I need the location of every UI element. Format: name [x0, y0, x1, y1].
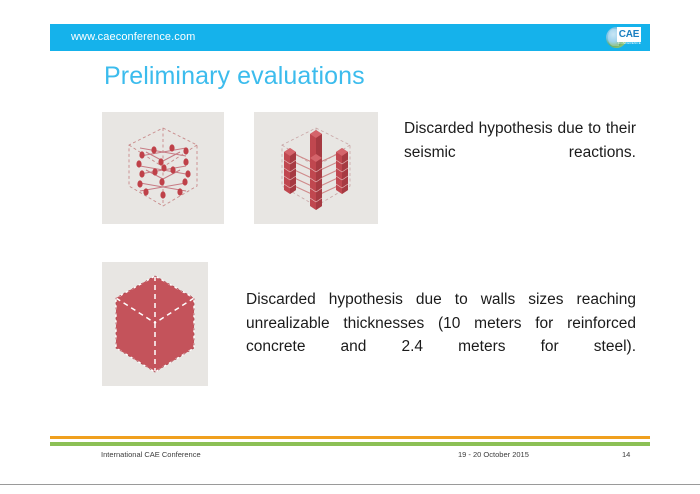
slide-canvas: www.caeconference.com CAE CONFERENCE Pre… [0, 0, 700, 494]
header-bar: www.caeconference.com CAE CONFERENCE [50, 24, 650, 51]
lattice-cube-graphic [102, 112, 224, 224]
solid-cube-figure [102, 262, 208, 386]
cae-logo-text: CAE [619, 30, 640, 40]
lattice-cube-figure [102, 112, 224, 224]
walls-paragraph: Discarded hypothesis due to walls sizes … [246, 288, 636, 382]
cae-logo-subtext: CONFERENCE [618, 41, 641, 45]
seismic-paragraph: Discarded hypothesis due to their seismi… [404, 117, 636, 188]
column-frame-figure [254, 112, 378, 224]
footer-page-number: 14 [622, 450, 630, 459]
footer-rule-orange [50, 436, 650, 439]
solid-cube-graphic [102, 262, 208, 386]
column-frame-graphic [254, 112, 378, 224]
cae-logo-badge: CAE [617, 27, 641, 42]
cae-globe-logo: CAE CONFERENCE [606, 26, 642, 49]
slide-bottom-rule [0, 484, 700, 485]
footer-rule-green [50, 442, 650, 446]
footer-dates: 19 - 20 October 2015 [458, 450, 529, 459]
conference-url-label: www.caeconference.com [71, 31, 195, 43]
page-title: Preliminary evaluations [104, 62, 365, 91]
footer-conference-name: International CAE Conference [101, 450, 201, 459]
